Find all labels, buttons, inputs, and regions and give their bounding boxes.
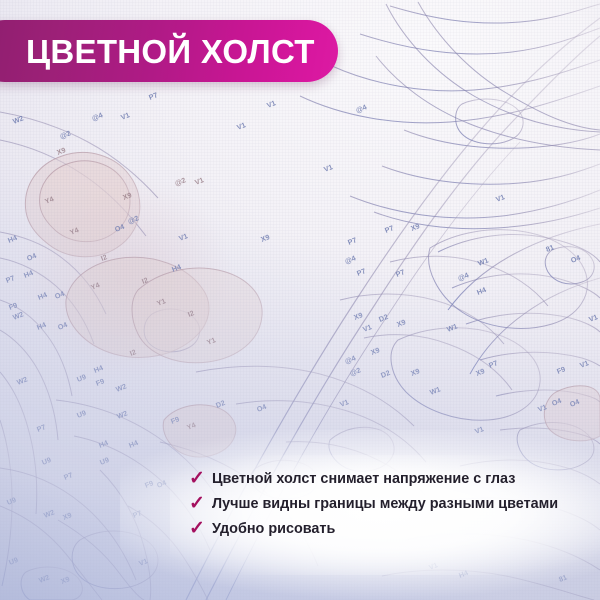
- list-item: ✓ Цветной холст снимает напряжение с гла…: [189, 468, 589, 488]
- check-icon: ✓: [189, 494, 209, 513]
- list-item: ✓ Удобно рисовать: [189, 518, 589, 538]
- feature-list: ✓ Цветной холст снимает напряжение с гла…: [189, 468, 589, 543]
- list-item: ✓ Лучше видны границы между разными цвет…: [189, 493, 589, 513]
- feature-text: Удобно рисовать: [212, 520, 335, 538]
- headline-banner: ЦВЕТНОЙ ХОЛСТ: [0, 20, 338, 82]
- feature-text: Цветной холст снимает напряжение с глаз: [212, 470, 515, 488]
- feature-text: Лучше видны границы между разными цветам…: [212, 495, 558, 513]
- check-icon: ✓: [189, 469, 209, 488]
- product-image: V1W2@4V1P7@2X9V1@4@2Y4X9V1V1V1H4Y4O4I2O4…: [0, 0, 600, 600]
- headline-title: ЦВЕТНОЙ ХОЛСТ: [26, 35, 315, 68]
- check-icon: ✓: [189, 519, 209, 538]
